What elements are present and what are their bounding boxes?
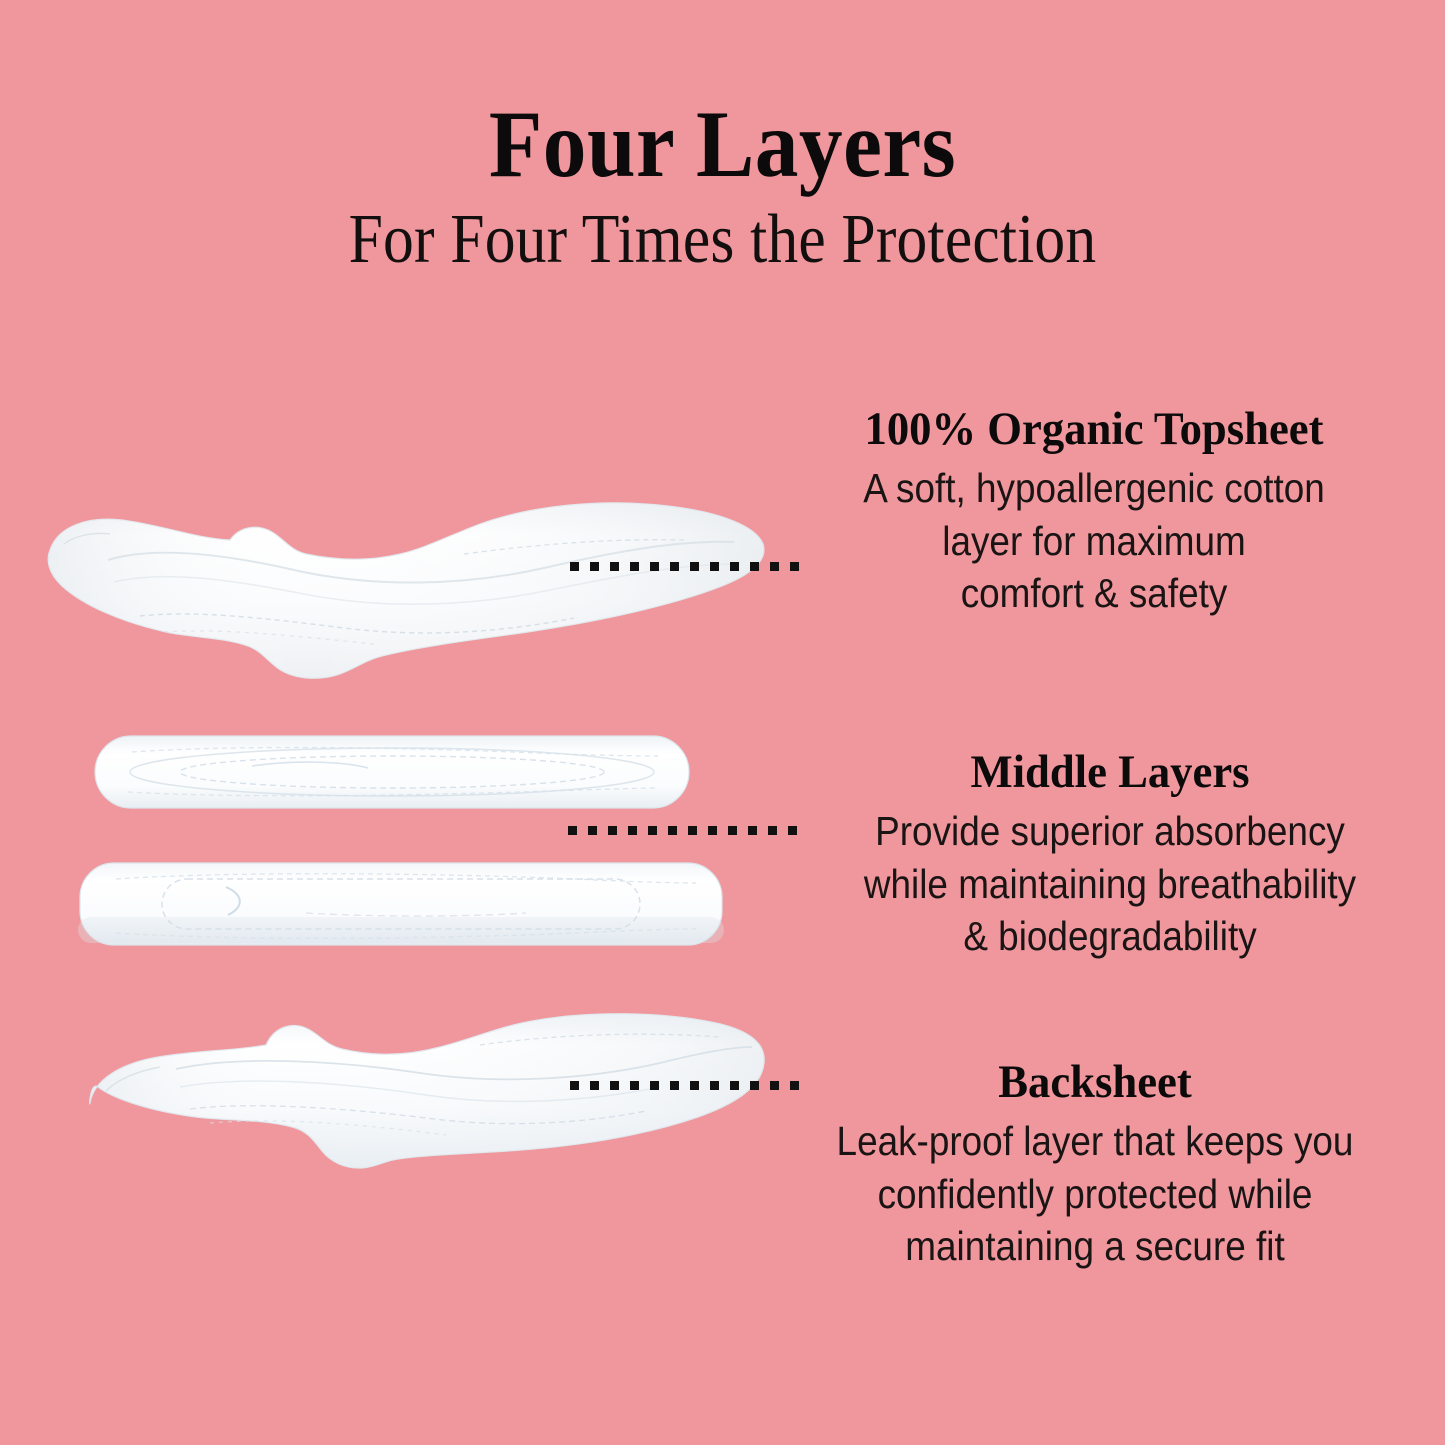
layer-description-line: layer for maximum	[802, 515, 1385, 567]
layer-description-backsheet: Leak-proof layer that keeps you confiden…	[798, 1115, 1392, 1272]
sanitary-pad-middle-layer-upper-image	[92, 730, 692, 815]
layer-heading-backsheet: Backsheet	[782, 1058, 1409, 1107]
layer-description-topsheet: A soft, hypoallergenic cotton layer for …	[802, 462, 1385, 619]
layer-heading-middle: Middle Layers	[806, 748, 1414, 797]
layer-description-line: while maintaining breathability	[822, 858, 1398, 910]
four-layers-infographic: Four Layers For Four Times the Protectio…	[0, 0, 1445, 1445]
layer-description-line: confidently protected while	[798, 1168, 1392, 1220]
layer-description-line: & biodegradability	[822, 910, 1398, 962]
connector-middle-dotted-line	[568, 826, 802, 835]
layer-description-line: Leak-proof layer that keeps you	[798, 1115, 1392, 1167]
layer-heading-topsheet: 100% Organic Topsheet	[786, 405, 1402, 454]
pad-layer-illustrations	[0, 0, 790, 1445]
layer-info-topsheet: 100% Organic Topsheet A soft, hypoallerg…	[770, 405, 1418, 620]
layer-description-line: A soft, hypoallergenic cotton	[802, 462, 1385, 514]
sanitary-pad-middle-layer-lower-image	[76, 855, 726, 955]
connector-topsheet-dotted-line	[570, 562, 802, 571]
layer-info-middle: Middle Layers Provide superior absorbenc…	[790, 748, 1430, 963]
layer-description-line: Provide superior absorbency	[822, 805, 1398, 857]
layer-description-middle: Provide superior absorbency while mainta…	[822, 805, 1398, 962]
layer-info-backsheet: Backsheet Leak-proof layer that keeps yo…	[765, 1058, 1425, 1273]
sanitary-pad-topsheet-layer-image	[44, 498, 769, 683]
layer-description-line: comfort & safety	[802, 567, 1385, 619]
layer-description-line: maintaining a secure fit	[798, 1220, 1392, 1272]
